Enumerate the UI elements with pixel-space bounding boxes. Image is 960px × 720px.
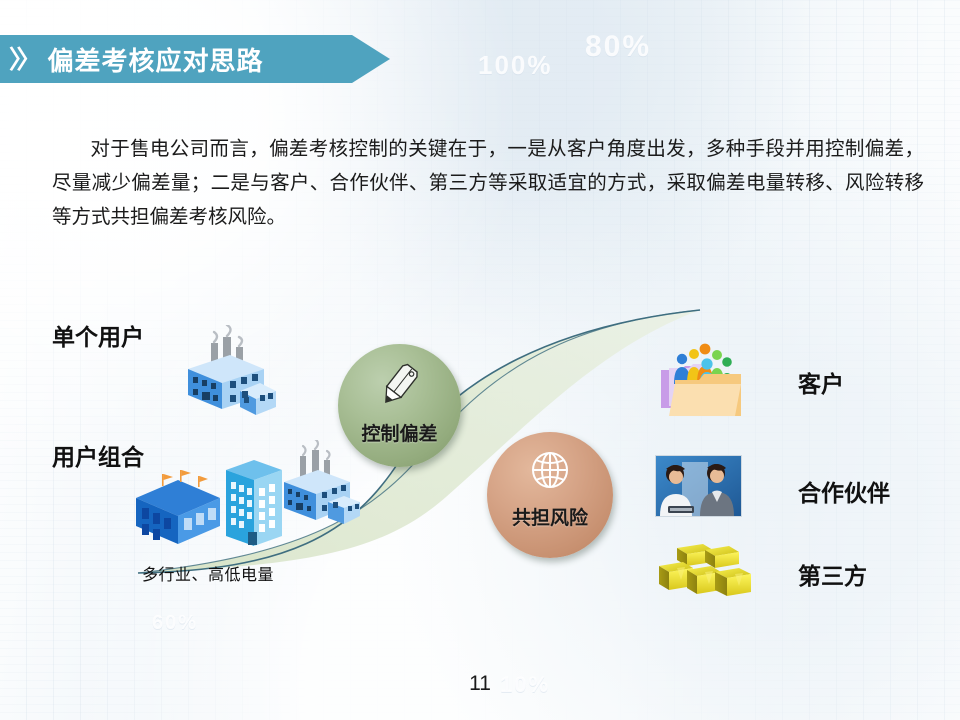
- building-group-icon: [128, 440, 368, 565]
- background-watermark-60: 60%: [152, 612, 198, 635]
- node-share-risk-label: 共担风险: [512, 503, 588, 530]
- background-glow-blobs: [0, 0, 960, 720]
- node-control-deviation-label: 控制偏差: [361, 419, 437, 446]
- factory-icon: [168, 325, 278, 430]
- background-watermark-80: 80%: [585, 30, 651, 64]
- label-third-party: 第三方: [798, 557, 867, 591]
- caption-multi-industry: 多行业、高低电量: [142, 561, 274, 585]
- partners-photo-icon: [655, 455, 742, 517]
- page-number: 11: [0, 672, 960, 696]
- gold-bars-icon: [655, 540, 755, 607]
- background-vertical-bands: [0, 0, 960, 720]
- label-customer: 客户: [798, 365, 844, 399]
- pencil-icon: [374, 358, 426, 415]
- globe-icon: [526, 446, 574, 499]
- body-paragraph: 对于售电公司而言，偏差考核控制的关键在于，一是从客户角度出发，多种手段并用控制偏…: [52, 132, 924, 234]
- node-share-risk[interactable]: 共担风险: [487, 432, 613, 558]
- label-partner: 合作伙伴: [798, 474, 890, 508]
- double-chevron-right-icon: 〉〉: [9, 47, 37, 72]
- background-horizontal-lines: [0, 0, 960, 720]
- background-watermark-100: 100%: [478, 50, 553, 81]
- node-control-deviation[interactable]: 控制偏差: [338, 344, 461, 467]
- slide-canvas: 100% 80% 10% 60% 〉〉 偏差考核应对思路 对于售电公司而言，偏差…: [0, 0, 960, 720]
- people-folder-icon: [655, 340, 747, 423]
- slide-title-banner: 〉〉 偏差考核应对思路: [0, 35, 390, 83]
- page-title: 偏差考核应对思路: [48, 41, 264, 78]
- label-single-user: 单个用户: [52, 318, 144, 352]
- paragraph-text: 对于售电公司而言，偏差考核控制的关键在于，一是从客户角度出发，多种手段并用控制偏…: [52, 138, 924, 228]
